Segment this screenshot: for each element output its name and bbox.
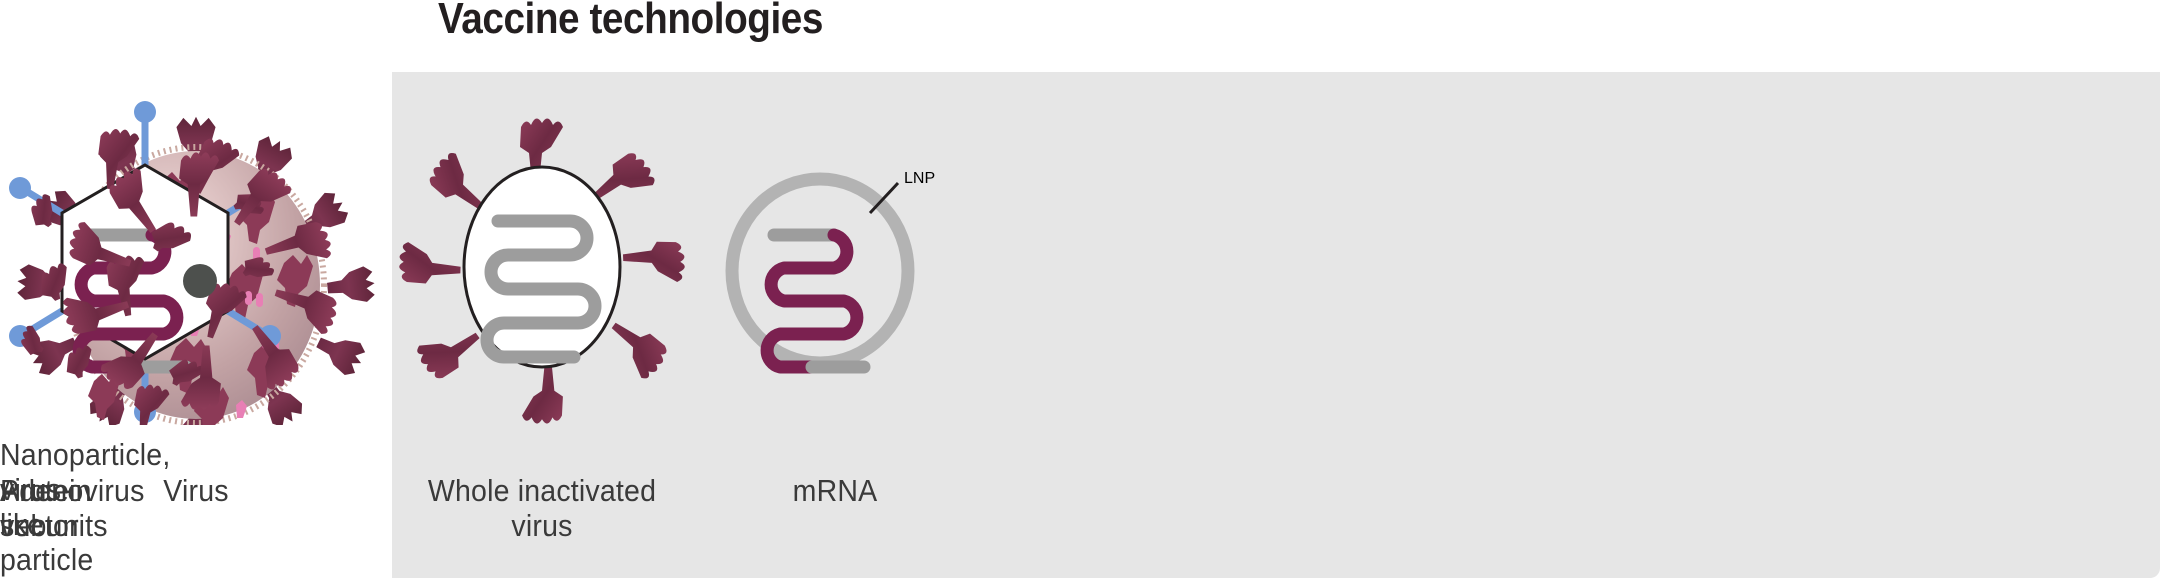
mrna-illustration: LNP [692, 95, 978, 425]
mrna-svg: LNP [692, 95, 978, 425]
column-whole-inactivated-virus: Whole inactivated virus [392, 0, 692, 578]
column-mrna: LNP mRNA [692, 0, 978, 578]
vaccine-technologies-figure: Vaccine technologies [0, 0, 2160, 578]
nanoparticle-core [183, 264, 217, 298]
lnp-label: LNP [904, 170, 935, 187]
caption-whole-inactivated-virus: Whole inactivated virus [404, 473, 680, 543]
nanoparticle-svg [0, 95, 400, 425]
caption-mrna: mRNA [703, 473, 966, 508]
inactivated-virus-svg [392, 95, 692, 425]
whole-inactivated-virus-illustration [392, 95, 692, 425]
